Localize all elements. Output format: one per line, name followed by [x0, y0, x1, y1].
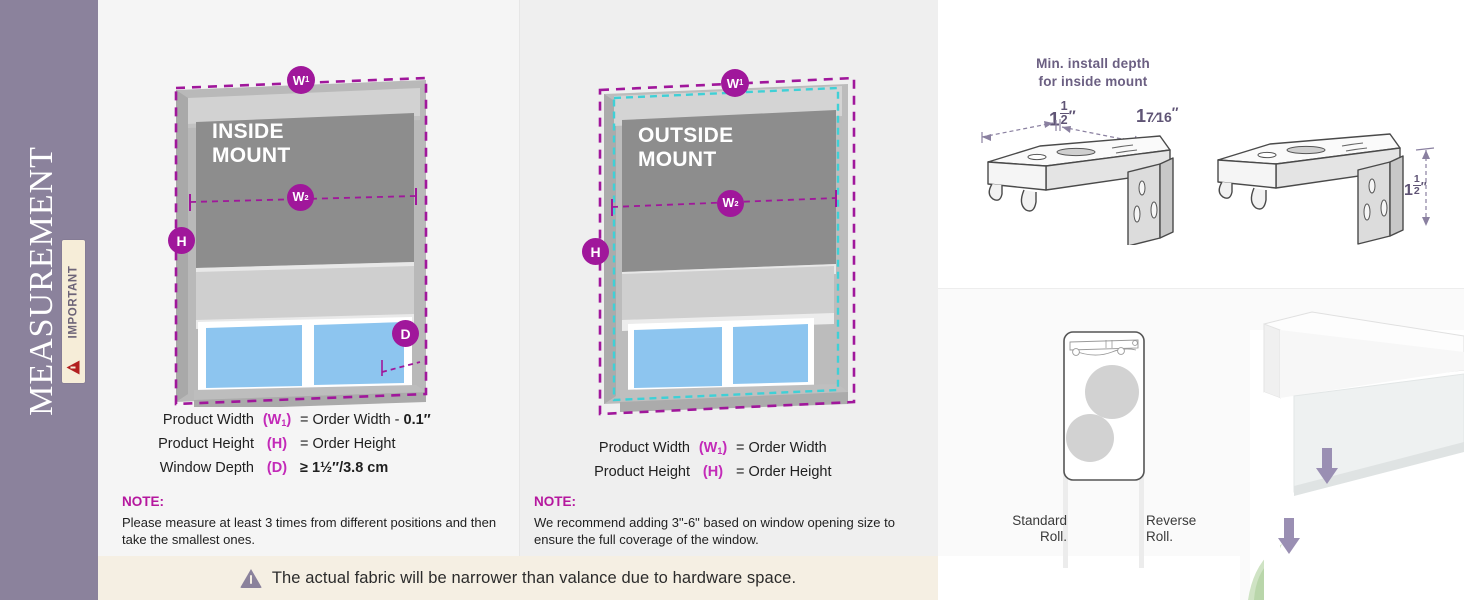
badge-w2-outside: W2	[717, 190, 744, 217]
outside-mount-specs: Product Width (W1) = Order Width Product…	[540, 440, 930, 548]
banner-text: The actual fabric will be narrower than …	[272, 569, 796, 588]
inside-mount-label: INSIDE MOUNT	[212, 120, 291, 167]
spec-row: Window Depth (D) ≥ 1½″/3.8 cm	[124, 460, 514, 476]
important-badge-label: IMPORTANT	[68, 250, 80, 355]
measurement-guide-page: MEASUREMENT IMPORTANT	[0, 0, 1464, 600]
right-panel-divider	[938, 288, 1464, 289]
inside-note-heading: NOTE:	[122, 494, 514, 509]
spec-label: Product Height	[540, 464, 690, 480]
standard-roll-caption: Standard Roll.	[999, 513, 1067, 546]
inside-note-body: Please measure at least 3 times from dif…	[122, 515, 514, 548]
outside-mount-diagram: OUTSIDE MOUNT W1 W2 H	[586, 72, 868, 420]
hardware-space-banner: The actual fabric will be narrower than …	[98, 556, 938, 600]
warning-triangle-icon	[240, 569, 262, 588]
badge-w1-inside: W1	[287, 66, 315, 94]
inside-mount-diagram: INSIDE MOUNT W1 W2 H D	[168, 72, 438, 407]
spec-value: = Order Height	[300, 436, 396, 452]
outside-note-heading: NOTE:	[534, 494, 930, 509]
spec-label: Product Height	[124, 436, 254, 452]
spec-label: Product Width	[124, 412, 254, 428]
outside-note-body: We recommend adding 3"-6" based on windo…	[534, 515, 930, 548]
spec-symbol: (D)	[254, 460, 300, 476]
spec-symbol: (W1)	[254, 412, 300, 428]
bracket-dimension-diagram	[960, 110, 1460, 245]
page-title: MEASUREMENT	[23, 71, 61, 491]
spec-symbol: (H)	[254, 436, 300, 452]
spec-row: Product Height (H) = Order Height	[540, 464, 930, 480]
valance-shade-illustration	[1240, 300, 1464, 600]
spec-row: Product Width (W1) = Order Width	[540, 440, 930, 456]
spec-row: Product Width (W1) = Order Width - 0.1″	[124, 412, 514, 428]
spec-row: Product Height (H) = Order Height	[124, 436, 514, 452]
warning-triangle-icon	[67, 361, 80, 375]
spec-symbol: (W1)	[690, 440, 736, 456]
measurement-rail: MEASUREMENT IMPORTANT	[0, 0, 98, 600]
badge-w1-outside: W1	[721, 69, 749, 97]
install-depth-title: Min. install depth for inside mount	[978, 55, 1208, 90]
spec-value: ≥ 1½″/3.8 cm	[300, 460, 388, 476]
spec-value: = Order Height	[736, 464, 832, 480]
badge-d-inside: D	[392, 320, 419, 347]
inside-mount-illustration	[168, 72, 438, 407]
panel-divider	[519, 0, 520, 556]
spec-label: Window Depth	[124, 460, 254, 476]
badge-h-outside: H	[582, 238, 609, 265]
spec-symbol: (H)	[690, 464, 736, 480]
spec-label: Product Width	[540, 440, 690, 456]
important-badge: IMPORTANT	[62, 240, 85, 383]
badge-h-inside: H	[168, 227, 195, 254]
badge-w2-inside: W2	[287, 184, 314, 211]
inside-mount-specs: Product Width (W1) = Order Width - 0.1″ …	[124, 412, 514, 548]
spec-value: = Order Width - 0.1″	[300, 412, 431, 428]
spec-value: = Order Width	[736, 440, 827, 456]
reverse-roll-caption: Reverse Roll.	[1146, 513, 1216, 546]
outside-mount-label: OUTSIDE MOUNT	[638, 124, 733, 171]
